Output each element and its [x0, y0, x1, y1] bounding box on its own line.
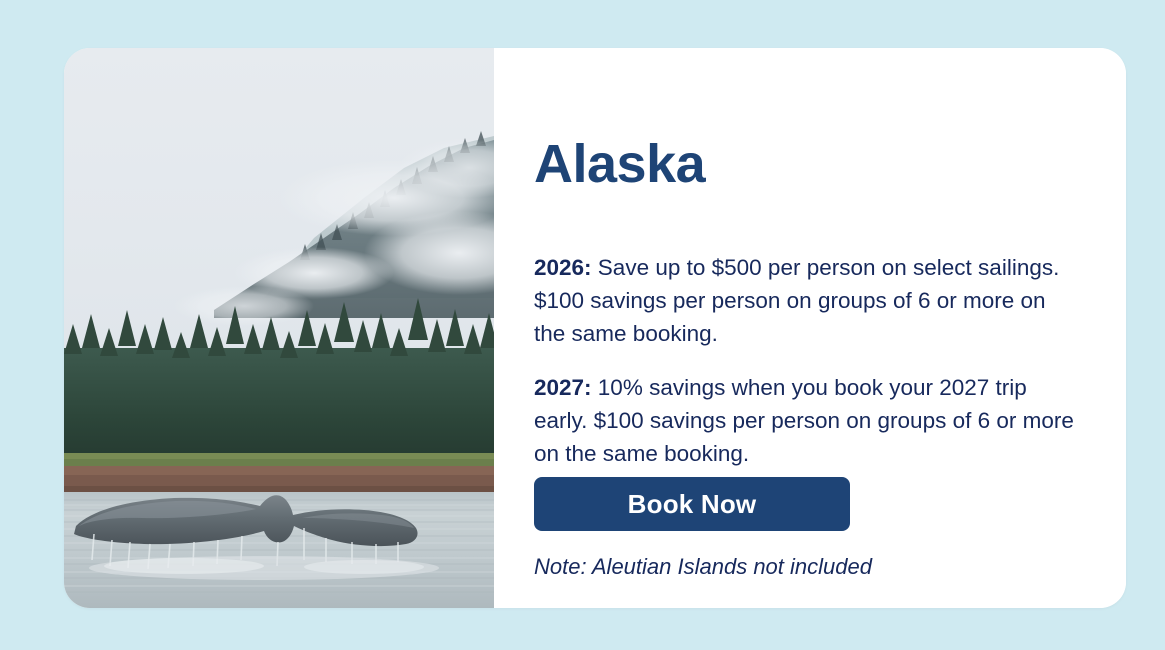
- destination-photo: [64, 48, 494, 608]
- disclaimer-note: Note: Aleutian Islands not included: [534, 552, 872, 582]
- offer-2027: 2027: 10% savings when you book your 202…: [534, 371, 1082, 470]
- alaska-promo-card: Alaska 2026: Save up to $500 per person …: [64, 48, 1126, 608]
- offer-2027-year: 2027:: [534, 375, 592, 400]
- offer-2026-year: 2026:: [534, 255, 592, 280]
- offer-2026: 2026: Save up to $500 per person on sele…: [534, 251, 1082, 350]
- page-title: Alaska: [534, 136, 705, 192]
- offer-content-pane: Alaska 2026: Save up to $500 per person …: [494, 48, 1126, 608]
- book-now-button[interactable]: Book Now: [534, 477, 850, 531]
- offer-2026-text: Save up to $500 per person on select sai…: [534, 255, 1059, 346]
- whale-fluke-illustration: [64, 48, 494, 608]
- offer-2027-text: 10% savings when you book your 2027 trip…: [534, 375, 1074, 466]
